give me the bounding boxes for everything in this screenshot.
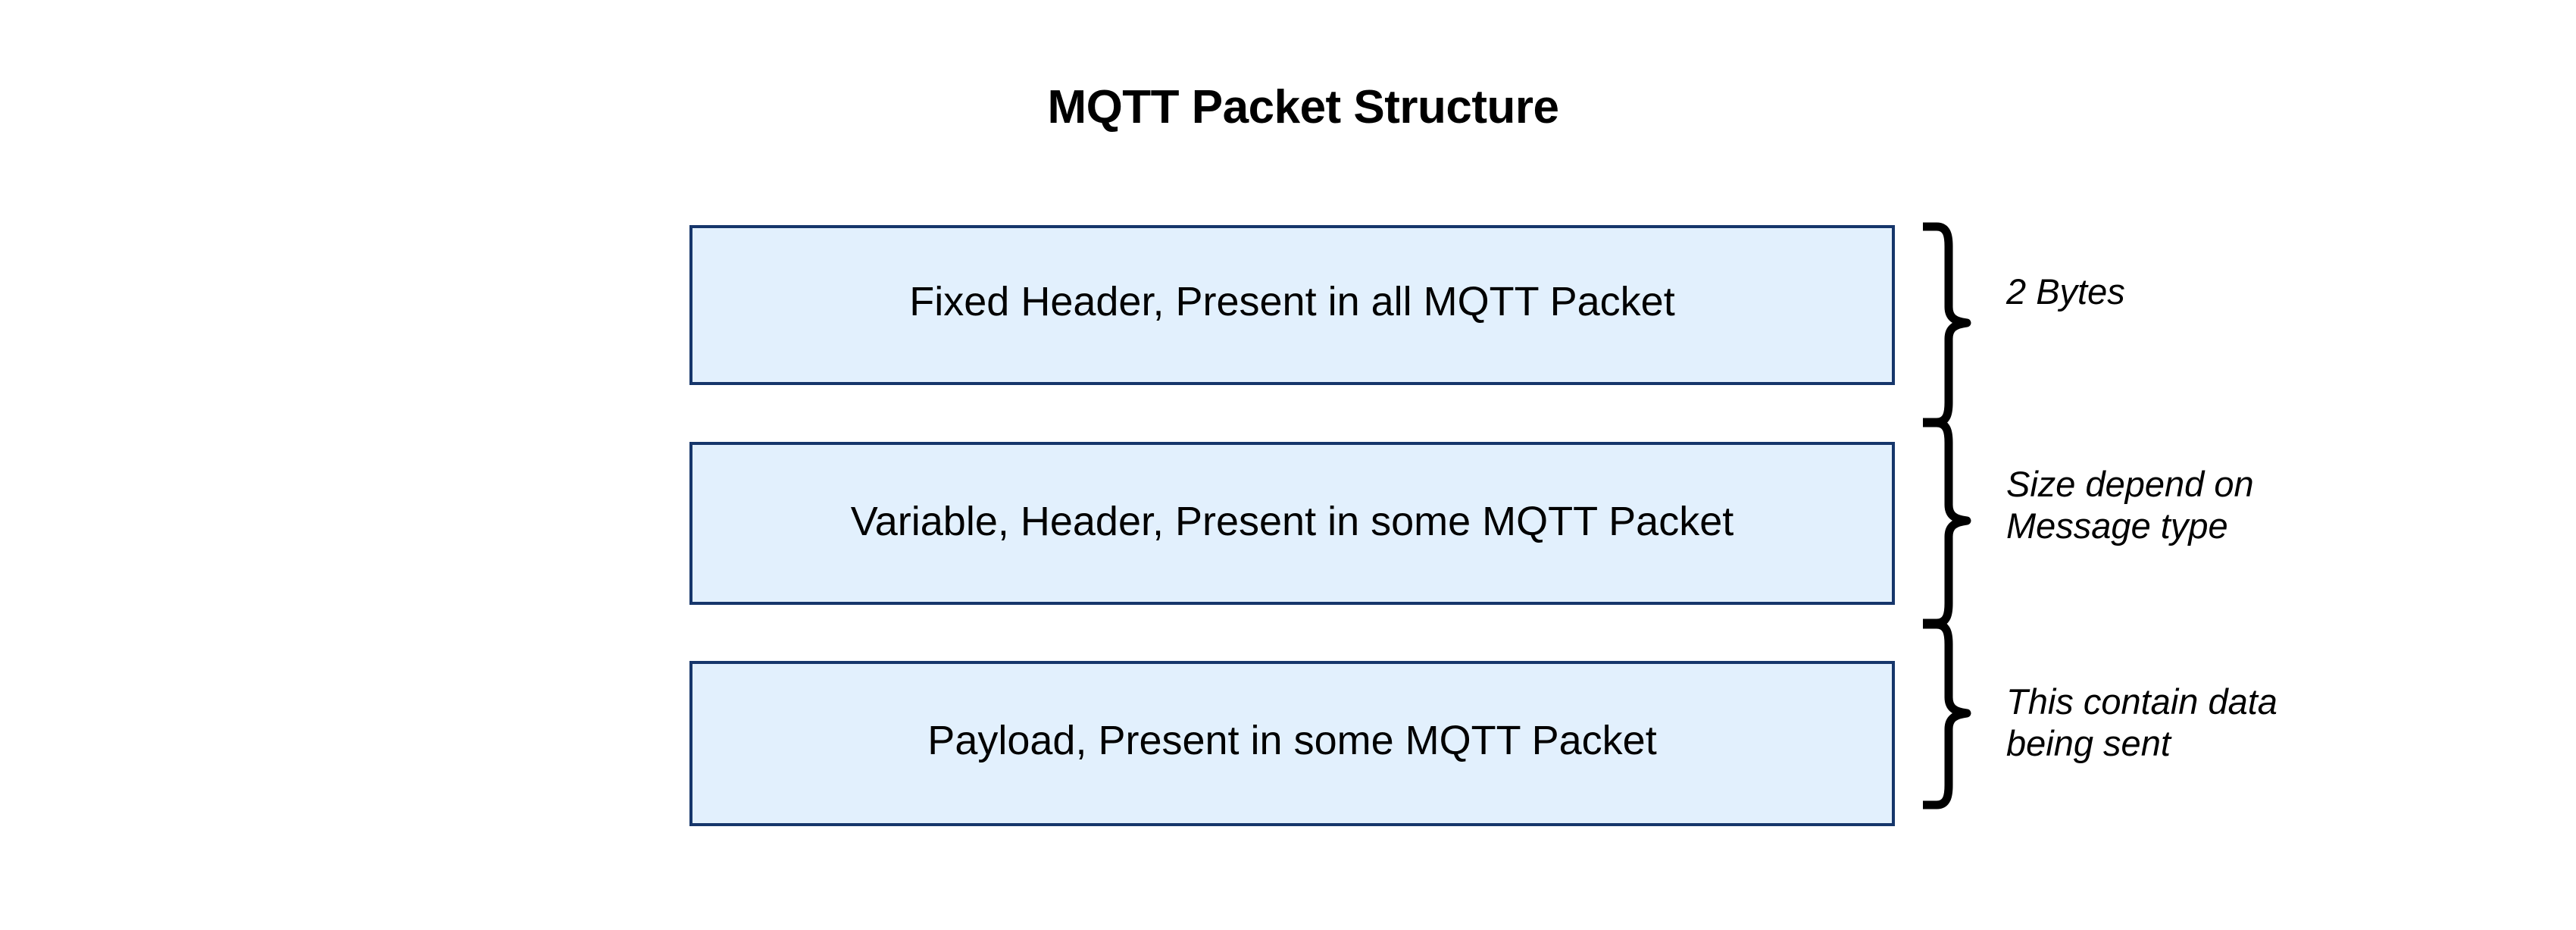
annotation-payload-description: This contain data being sent: [2006, 681, 2277, 765]
packet-box-label: Payload, Present in some MQTT Packet: [927, 717, 1656, 764]
curly-brace-icon: [1921, 222, 1974, 427]
page-title-text: MQTT Packet Structure: [1047, 82, 1558, 133]
annotation-fixed-header-size: 2 Bytes: [2006, 271, 2125, 312]
packet-box-fixed-header: Fixed Header, Present in all MQTT Packet: [689, 225, 1895, 385]
packet-box-label: Fixed Header, Present in all MQTT Packet: [909, 278, 1674, 325]
packet-box-variable-header: Variable, Header, Present in some MQTT P…: [689, 442, 1895, 605]
packet-box-payload: Payload, Present in some MQTT Packet: [689, 661, 1895, 826]
annotation-variable-header-size: Size depend on Message type: [2006, 463, 2254, 547]
mqtt-packet-structure-diagram: MQTT Packet Structure Fixed Header, Pres…: [0, 0, 2576, 930]
packet-box-label: Variable, Header, Present in some MQTT P…: [851, 498, 1734, 545]
curly-brace-icon: [1921, 418, 1974, 628]
curly-brace-icon: [1921, 620, 1974, 809]
page-title: MQTT Packet Structure: [0, 82, 2576, 133]
